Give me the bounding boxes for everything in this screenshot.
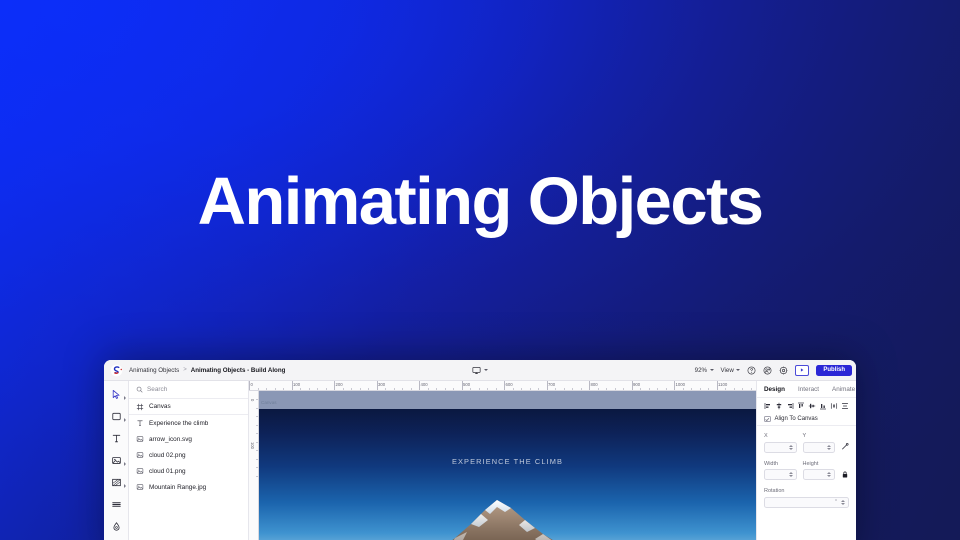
text-t-icon <box>111 433 122 444</box>
play-preview-icon <box>799 367 805 373</box>
image-icon <box>136 483 144 491</box>
ruler-minor-tick <box>394 388 395 390</box>
ruler-minor-tick <box>368 388 369 390</box>
ruler-label: 0 <box>250 399 255 401</box>
view-menu[interactable]: View <box>721 367 741 374</box>
ruler-minor-tick <box>360 388 361 390</box>
zoom-selector[interactable]: 92% <box>695 367 714 374</box>
ruler-minor-tick <box>283 388 284 390</box>
y-input[interactable] <box>803 442 836 453</box>
artboard-name-label[interactable]: Canvas <box>261 400 277 405</box>
layers-tool[interactable] <box>110 498 123 511</box>
height-field-group: Height <box>803 461 836 481</box>
ruler-minor-tick <box>479 388 480 390</box>
layer-item-text[interactable]: Experience the climb <box>129 415 248 431</box>
rotation-fields: Rotation ° <box>764 488 849 508</box>
rectangle-tool[interactable] <box>110 410 123 423</box>
ruler-minor-tick <box>256 476 258 477</box>
image-icon <box>136 467 144 475</box>
ruler-minor-tick <box>496 388 497 390</box>
image-icon <box>136 451 144 459</box>
alignment-toolbar <box>757 398 856 413</box>
view-chevron-down-icon <box>736 369 740 371</box>
ruler-minor-tick <box>256 433 258 434</box>
ruler-minor-tick <box>751 388 752 390</box>
preview-play-button[interactable] <box>795 365 809 376</box>
ruler-minor-tick <box>256 459 258 460</box>
align-center-horizontal-icon[interactable] <box>775 402 783 410</box>
rotate-handle-icon[interactable] <box>841 442 849 451</box>
pen-drop-icon <box>111 521 122 532</box>
image-icon <box>111 455 122 466</box>
ruler-label: 900 <box>632 382 641 387</box>
ruler-minor-tick <box>606 388 607 390</box>
ruler-minor-tick <box>256 450 258 451</box>
rotation-input[interactable]: ° <box>764 497 849 508</box>
rotation-stepper[interactable] <box>841 500 845 505</box>
view-label: View <box>721 367 734 374</box>
ruler-minor-tick <box>513 388 514 390</box>
ruler-label: 800 <box>589 382 598 387</box>
ruler-minor-tick <box>256 467 258 468</box>
x-stepper[interactable] <box>789 445 793 450</box>
desktop-monitor-icon[interactable] <box>472 366 481 375</box>
tab-animate[interactable]: Animate <box>832 386 855 393</box>
draw-tool[interactable] <box>110 520 123 533</box>
ruler-minor-tick <box>385 388 386 390</box>
height-label: Height <box>803 461 836 467</box>
ruler-minor-tick <box>683 388 684 390</box>
align-to-canvas-row[interactable]: Align To Canvas <box>757 413 856 426</box>
ruler-label: 200 <box>334 382 343 387</box>
layer-item-mountain-range-jpg[interactable]: Mountain Range.jpg <box>129 479 248 495</box>
ruler-minor-tick <box>256 442 258 443</box>
size-fields: Width Height <box>764 461 849 481</box>
layer-search-field[interactable]: Search <box>129 381 248 399</box>
rectangle-icon <box>111 411 122 422</box>
ruler-label: 700 <box>547 382 556 387</box>
toolbar-right-group: 92% View <box>695 365 852 376</box>
y-stepper[interactable] <box>827 445 831 450</box>
degree-symbol: ° <box>835 499 837 505</box>
ruler-minor-tick <box>742 388 743 390</box>
y-field-group: Y <box>803 433 836 453</box>
vertical-ruler[interactable]: 0100 <box>249 391 259 540</box>
device-chevron-down-icon[interactable] <box>484 369 488 371</box>
mountain-range-image[interactable] <box>393 494 623 540</box>
cursor-arrow-icon <box>111 389 122 400</box>
ruler-minor-tick <box>734 388 735 390</box>
ruler-minor-tick <box>445 388 446 390</box>
layer-label: arrow_icon.svg <box>149 436 192 443</box>
breadcrumb-current[interactable]: Animating Objects - Build Along <box>191 367 286 374</box>
ruler-label: 400 <box>419 382 428 387</box>
artboard[interactable]: EXPERIENCE THE CLIMB <box>259 409 756 540</box>
layer-item-cloud-01-png[interactable]: cloud 01.png <box>129 463 248 479</box>
ruler-minor-tick <box>530 388 531 390</box>
select-tool[interactable] <box>110 388 123 401</box>
width-input[interactable] <box>764 469 797 480</box>
align-right-icon[interactable] <box>786 402 794 410</box>
share-people-icon[interactable] <box>763 366 772 375</box>
artboard-scroll[interactable]: Canvas EXPERIENCE THE CLIMB <box>259 391 756 540</box>
ruler-minor-tick <box>581 388 582 390</box>
distribute-horizontal-icon[interactable] <box>830 402 838 410</box>
ruler-minor-tick <box>343 388 344 390</box>
check-icon <box>765 417 770 422</box>
canvas-area: 0100 Canvas EXPERIENCE THE CLIMB <box>249 391 756 540</box>
ruler-minor-tick <box>402 388 403 390</box>
align-to-canvas-checkbox[interactable] <box>764 416 771 423</box>
ruler-minor-tick <box>649 388 650 390</box>
ruler-minor-tick <box>470 388 471 390</box>
ruler-minor-tick <box>666 388 667 390</box>
ruler-minor-tick <box>640 388 641 390</box>
ruler-label: 100 <box>250 442 255 449</box>
x-input[interactable] <box>764 442 797 453</box>
align-bottom-icon[interactable] <box>819 402 827 410</box>
ruler-minor-tick <box>623 388 624 390</box>
ruler-label: 100 <box>292 382 301 387</box>
ruler-minor-tick <box>300 388 301 390</box>
ruler-minor-tick <box>487 388 488 390</box>
mask-frame-icon <box>111 477 122 488</box>
rotation-label: Rotation <box>764 488 849 494</box>
ruler-minor-tick <box>256 408 258 409</box>
canvas-frame-icon <box>136 403 144 411</box>
position-fields: X Y <box>764 433 849 453</box>
artboard-heading-text[interactable]: EXPERIENCE THE CLIMB <box>259 457 756 466</box>
ruler-minor-tick <box>436 388 437 390</box>
height-stepper[interactable] <box>827 472 831 477</box>
layer-search-placeholder: Search <box>147 386 167 393</box>
ruler-minor-tick <box>275 388 276 390</box>
ruler-minor-tick <box>691 388 692 390</box>
ruler-label: 1100 <box>717 382 728 387</box>
align-top-icon[interactable] <box>797 402 805 410</box>
height-input[interactable] <box>803 469 836 480</box>
ruler-minor-tick <box>700 388 701 390</box>
layer-label: Experience the climb <box>149 420 208 427</box>
tab-design[interactable]: Design <box>764 386 785 393</box>
ruler-minor-tick <box>256 416 258 417</box>
properties-panel: Design Interact Animate <box>756 381 856 540</box>
layer-item-arrow-icon-svg[interactable]: arrow_icon.svg <box>129 431 248 447</box>
ruler-minor-tick <box>708 388 709 390</box>
artboard-top-band <box>259 391 756 409</box>
distribute-vertical-icon[interactable] <box>841 402 849 410</box>
ruler-minor-tick <box>453 388 454 390</box>
app-logo-icon[interactable] <box>110 364 123 377</box>
ruler-minor-tick <box>598 388 599 390</box>
canvas-region: 0100200300400500600700800900100011001200… <box>249 381 756 540</box>
ruler-minor-tick <box>521 388 522 390</box>
text-t-icon <box>136 419 144 427</box>
ruler-minor-tick <box>725 388 726 390</box>
tab-interact[interactable]: Interact <box>798 386 819 393</box>
rotation-field-group: Rotation ° <box>764 488 849 508</box>
layer-item-canvas[interactable]: Canvas <box>129 399 248 415</box>
horizontal-ruler[interactable]: 0100200300400500600700800900100011001200 <box>249 381 756 391</box>
x-label: X <box>764 433 797 439</box>
ruler-minor-tick <box>317 388 318 390</box>
layer-label: Canvas <box>149 403 171 410</box>
ruler-minor-tick <box>538 388 539 390</box>
design-app-window: Animating Objects > Animating Objects - … <box>104 360 856 540</box>
slide-title: Animating Objects <box>0 168 960 235</box>
ruler-label: 1000 <box>674 382 685 387</box>
mask-tool[interactable] <box>110 476 123 489</box>
layer-label: cloud 01.png <box>149 468 186 475</box>
gear-icon[interactable] <box>779 366 788 375</box>
ruler-minor-tick <box>351 388 352 390</box>
ruler-minor-tick <box>572 388 573 390</box>
ruler-minor-tick <box>256 425 258 426</box>
y-label: Y <box>803 433 836 439</box>
layer-item-cloud-02-png[interactable]: cloud 02.png <box>129 447 248 463</box>
ruler-minor-tick <box>411 388 412 390</box>
stack-layers-icon <box>111 499 122 510</box>
zoom-value: 92% <box>695 367 707 374</box>
ruler-label: 500 <box>462 382 471 387</box>
app-body: Search Canvas Experience the climb <box>104 381 856 540</box>
properties-tabs: Design Interact Animate <box>757 381 856 398</box>
align-left-icon[interactable] <box>764 402 772 410</box>
ruler-minor-tick <box>326 388 327 390</box>
ruler-minor-tick <box>615 388 616 390</box>
breadcrumb-root[interactable]: Animating Objects <box>129 367 179 374</box>
zoom-chevron-down-icon <box>710 369 714 371</box>
image-tool[interactable] <box>110 454 123 467</box>
ruler-label: 300 <box>377 382 386 387</box>
tool-rail <box>104 381 129 540</box>
ruler-minor-tick <box>555 388 556 390</box>
search-icon <box>136 386 143 393</box>
publish-button[interactable]: Publish <box>816 365 852 376</box>
width-stepper[interactable] <box>789 472 793 477</box>
image-icon <box>136 435 144 443</box>
width-field-group: Width <box>764 461 797 481</box>
ruler-minor-tick <box>657 388 658 390</box>
ruler-minor-tick <box>428 388 429 390</box>
ruler-minor-tick <box>309 388 310 390</box>
ruler-label: 0 <box>249 382 253 387</box>
breadcrumb-separator: > <box>183 367 187 373</box>
transform-fields: X Y <box>757 426 856 516</box>
x-field-group: X <box>764 433 797 453</box>
help-circle-icon[interactable] <box>747 366 756 375</box>
lock-closed-icon[interactable] <box>841 470 849 479</box>
breadcrumb: Animating Objects > Animating Objects - … <box>129 367 285 374</box>
align-to-canvas-label: Align To Canvas <box>775 416 818 422</box>
layer-label: Mountain Range.jpg <box>149 484 206 491</box>
align-middle-vertical-icon[interactable] <box>808 402 816 410</box>
ruler-minor-tick <box>266 388 267 390</box>
app-toolbar: Animating Objects > Animating Objects - … <box>104 360 856 381</box>
ruler-label: 600 <box>504 382 513 387</box>
width-label: Width <box>764 461 797 467</box>
ruler-minor-tick <box>564 388 565 390</box>
layers-panel: Search Canvas Experience the climb <box>129 381 249 540</box>
layer-label: cloud 02.png <box>149 452 186 459</box>
ruler-minor-tick <box>258 388 259 390</box>
ruler-minor-tick <box>256 399 258 400</box>
text-tool[interactable] <box>110 432 123 445</box>
